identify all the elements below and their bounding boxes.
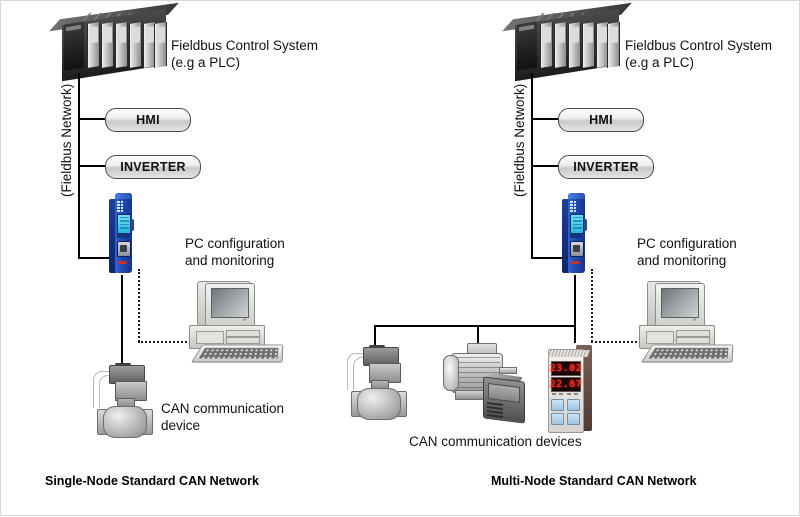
gateway-dsub-connector bbox=[117, 241, 131, 257]
pc-link-dotted-vertical bbox=[591, 269, 593, 342]
motor-end-cap bbox=[443, 355, 459, 391]
hmi-stub-wire bbox=[531, 118, 558, 120]
drive-bay bbox=[646, 331, 674, 344]
monitor-power-led-icon bbox=[693, 318, 696, 321]
controller-display-top: 23.02 bbox=[551, 361, 581, 376]
motor-drive bbox=[439, 343, 531, 423]
left-panel: Fieldbus Control System (e.g a PLC) (Fie… bbox=[1, 1, 401, 517]
motor-shaft bbox=[499, 367, 517, 374]
plc-label-line2: (e.g a PLC) bbox=[625, 54, 694, 71]
plc-io-module bbox=[554, 22, 567, 68]
node-hmi[interactable]: HMI bbox=[105, 108, 191, 132]
can-drop-valve bbox=[374, 325, 376, 347]
can-bus-drop bbox=[121, 275, 123, 367]
fieldbus-network-label: (Fieldbus Network) bbox=[512, 84, 527, 197]
can-gateway bbox=[109, 193, 135, 275]
gateway-text-strip bbox=[117, 234, 129, 238]
drive-bay bbox=[676, 330, 710, 337]
device-label-line1: CAN communication bbox=[161, 400, 284, 417]
plc-rack bbox=[56, 9, 174, 81]
node-hmi[interactable]: HMI bbox=[558, 108, 644, 132]
keyboard bbox=[641, 345, 733, 363]
node-inverter[interactable]: INVERTER bbox=[105, 155, 201, 179]
plc-io-module bbox=[101, 22, 114, 68]
gateway-label-panel bbox=[570, 214, 584, 234]
right-caption: Multi-Node Standard CAN Network bbox=[491, 474, 697, 488]
diagram-canvas: Fieldbus Control System (e.g a PLC) (Fie… bbox=[1, 1, 799, 515]
controller-display-bottom: 22.67 bbox=[551, 377, 581, 392]
plc-label-line2: (e.g a PLC) bbox=[171, 54, 240, 71]
can-bus-riser bbox=[574, 275, 576, 327]
plc-label-line1: Fieldbus Control System bbox=[625, 37, 772, 54]
drive-heatsink-fins bbox=[487, 402, 503, 418]
device-label-line2: device bbox=[161, 417, 200, 434]
can-bus-backbone bbox=[374, 325, 576, 327]
controller-button-set[interactable] bbox=[567, 413, 580, 425]
digital-controller: 23.02 22.67 bbox=[546, 341, 598, 433]
gateway-led-array bbox=[570, 201, 578, 211]
controller-button-shift[interactable] bbox=[567, 399, 580, 411]
gateway-label-panel bbox=[117, 214, 131, 234]
pc-workstation bbox=[183, 279, 283, 361]
plc-rack bbox=[509, 9, 627, 81]
devices-label: CAN communication devices bbox=[409, 433, 582, 450]
hmi-stub-wire bbox=[78, 118, 105, 120]
plc-io-module bbox=[607, 22, 620, 68]
drive-bay bbox=[226, 330, 260, 337]
plc-io-module bbox=[582, 22, 595, 68]
controller-indicator-leds bbox=[552, 393, 578, 395]
gateway-status-led bbox=[118, 261, 127, 264]
gateway-feed-wire bbox=[78, 257, 109, 259]
gateway-status-led bbox=[571, 261, 580, 264]
keyboard bbox=[191, 345, 283, 363]
plc-label-line1: Fieldbus Control System bbox=[171, 37, 318, 54]
left-caption: Single-Node Standard CAN Network bbox=[45, 474, 259, 488]
plc-io-module bbox=[115, 22, 128, 68]
valve-actuator bbox=[89, 363, 155, 441]
controller-button-up[interactable] bbox=[551, 399, 564, 411]
fieldbus-network-label: (Fieldbus Network) bbox=[59, 84, 74, 197]
monitor-screen bbox=[661, 288, 699, 318]
gateway-feed-wire bbox=[531, 257, 562, 259]
monitor-screen bbox=[211, 288, 249, 318]
pc-label-line1: PC configuration bbox=[185, 235, 285, 252]
plc-io-module bbox=[540, 22, 553, 68]
gateway-dsub-connector bbox=[570, 241, 584, 257]
right-panel: Fieldbus Control System (e.g a PLC) (Fie… bbox=[401, 1, 800, 517]
can-gateway bbox=[562, 193, 588, 275]
controller-value-top: 23.02 bbox=[550, 363, 583, 374]
node-inverter[interactable]: INVERTER bbox=[558, 155, 654, 179]
gateway-led-array bbox=[117, 201, 125, 211]
gateway-clip bbox=[584, 219, 587, 231]
controller-vent-icon bbox=[548, 350, 591, 357]
monitor-power-led-icon bbox=[243, 318, 246, 321]
pc-label-line2: and monitoring bbox=[185, 252, 274, 269]
pc-label-line2: and monitoring bbox=[637, 252, 726, 269]
valve-actuator bbox=[343, 345, 409, 423]
inverter-stub-wire bbox=[531, 165, 558, 167]
ball-valve-body bbox=[103, 406, 147, 438]
plc-io-module bbox=[87, 22, 100, 68]
controller-button-down[interactable] bbox=[551, 413, 564, 425]
gateway-top bbox=[115, 193, 132, 199]
controller-value-bottom: 22.67 bbox=[550, 379, 583, 390]
plc-io-module bbox=[568, 22, 581, 68]
gateway-top bbox=[568, 193, 585, 199]
pc-workstation bbox=[633, 279, 733, 361]
pc-link-dotted-vertical bbox=[138, 269, 140, 342]
controller-keypad[interactable] bbox=[551, 399, 579, 425]
pc-label-line1: PC configuration bbox=[637, 235, 737, 252]
drive-bay bbox=[676, 337, 710, 344]
inverter-stub-wire bbox=[78, 165, 105, 167]
drive-bay bbox=[226, 337, 260, 344]
plc-io-module bbox=[154, 22, 167, 68]
ball-valve-body bbox=[357, 388, 401, 420]
gateway-clip bbox=[131, 219, 134, 231]
gateway-text-strip bbox=[570, 234, 582, 238]
drive-bay bbox=[196, 331, 224, 344]
plc-io-module bbox=[129, 22, 142, 68]
